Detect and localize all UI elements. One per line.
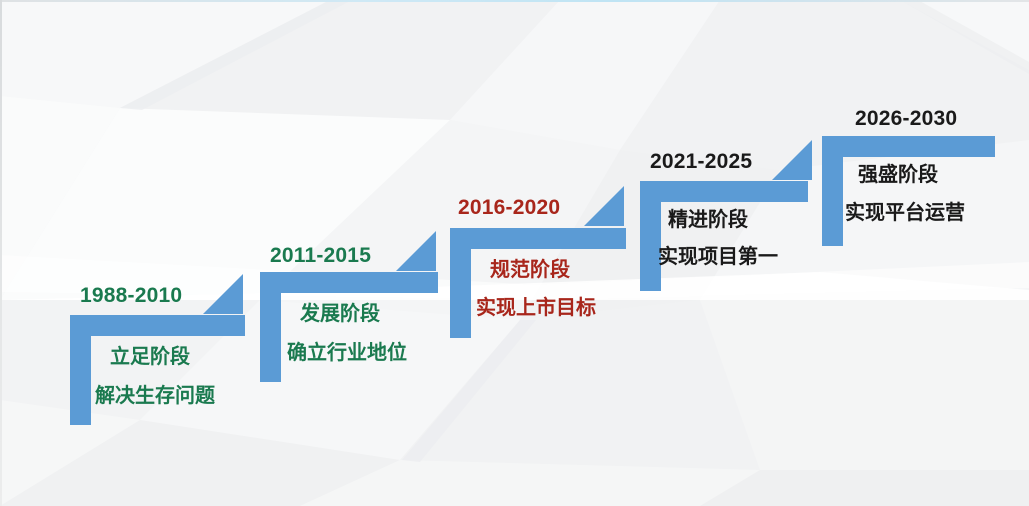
step-2-horizontal-bar xyxy=(260,272,438,293)
step-5-horizontal-bar xyxy=(822,136,995,157)
step-3-line-1: 规范阶段 xyxy=(490,253,570,282)
step-3-vertical-bar xyxy=(450,228,471,338)
step-1-year: 1988-2010 xyxy=(80,284,182,308)
step-4-year: 2021-2025 xyxy=(650,150,752,174)
step-1-vertical-bar xyxy=(70,315,91,425)
step-5-vertical-bar xyxy=(822,136,843,246)
slide-canvas: 1988-2010 立足阶段 解决生存问题 2011-2015 发展阶段 确立行… xyxy=(0,0,1029,506)
step-3-year: 2016-2020 xyxy=(458,196,560,220)
step-4-line-1: 精进阶段 xyxy=(668,203,748,232)
step-1-line-1: 立足阶段 xyxy=(110,340,190,369)
step-4-vertical-bar xyxy=(640,181,661,291)
left-edge-highlight xyxy=(0,0,2,506)
step-5-year: 2026-2030 xyxy=(855,107,957,131)
step-2-year: 2011-2015 xyxy=(270,244,371,268)
step-2-arrow-icon xyxy=(396,231,436,271)
step-2-line-1: 发展阶段 xyxy=(300,297,380,326)
step-1-arrow-icon xyxy=(203,274,243,314)
step-1-line-2: 解决生存问题 xyxy=(95,379,215,408)
step-4-line-2: 实现项目第一 xyxy=(658,240,778,269)
top-edge-highlight xyxy=(0,0,1029,2)
step-5-line-1: 强盛阶段 xyxy=(858,158,938,187)
step-3-line-2: 实现上市目标 xyxy=(476,291,596,320)
step-5-line-2: 实现平台运营 xyxy=(845,196,965,225)
step-2-vertical-bar xyxy=(260,272,281,382)
step-2-line-2: 确立行业地位 xyxy=(287,336,407,365)
step-1-horizontal-bar xyxy=(70,315,245,336)
step-4-horizontal-bar xyxy=(640,181,808,202)
step-3-arrow-icon xyxy=(584,186,624,226)
step-4-arrow-icon xyxy=(772,140,812,180)
step-3-horizontal-bar xyxy=(450,228,626,249)
